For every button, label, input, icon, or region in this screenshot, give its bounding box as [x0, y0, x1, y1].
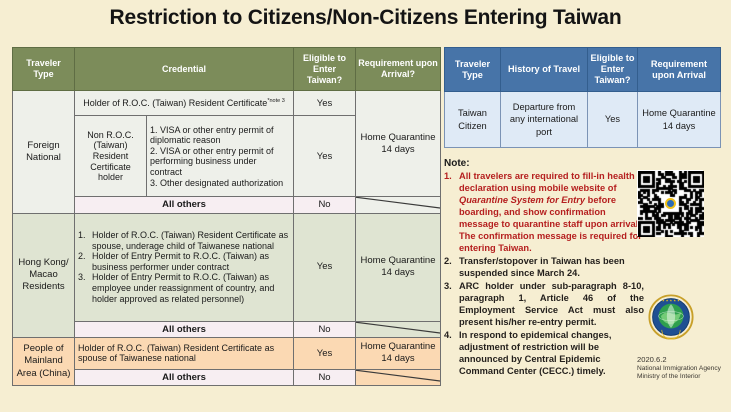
cell-eligible-fn-rc: Yes	[294, 91, 356, 116]
list-text: Holder of Entry Permit to R.O.C. (Taiwan…	[92, 272, 290, 304]
notes-heading: Note:	[444, 158, 644, 169]
header-traveler-type: Traveler Type	[13, 48, 75, 91]
cell-eligible-hk: Yes	[294, 213, 356, 321]
cell-requirement-taiwan-citizen: Home Quarantine 14 days	[638, 92, 721, 148]
credential-note-marker: *note 3	[267, 98, 284, 104]
table-row: Foreign National Holder of R.O.C. (Taiwa…	[13, 91, 441, 116]
cell-requirement-mainland: Home Quarantine 14 days	[356, 337, 441, 369]
right-table-header-row: Traveler Type History of Travel Eligible…	[445, 48, 721, 92]
publish-date: 2020.6.2	[637, 355, 731, 365]
note-fragment: In respond to epidemical changes, adjust…	[459, 330, 611, 376]
cell-traveler-type-hongkong-macao: Hong Kong/ Macao Residents	[13, 213, 75, 337]
national-immigration-agency-logo: ★ ★ ★ ★ ★	[648, 294, 694, 340]
header-requirement: Requirement upon Arrival	[638, 48, 721, 92]
header-traveler-type: Traveler Type	[445, 48, 501, 92]
diagonal-strike-icon	[356, 370, 441, 385]
list-text: Holder of Entry Permit to R.O.C. (Taiwan…	[92, 251, 290, 272]
note-fragment: All travelers are required to fill-in he…	[459, 171, 635, 193]
table-row: Hong Kong/ Macao Residents 1. Holder of …	[13, 213, 441, 321]
cell-requirement-all-others-fn	[356, 197, 441, 213]
list-number: 1.	[78, 230, 87, 241]
publisher-credit: 2020.6.2 National Immigration Agency Min…	[637, 355, 731, 382]
cell-eligible-taiwan-citizen: Yes	[588, 92, 638, 148]
requirement-text: Home Quarantine 14 days	[361, 132, 436, 155]
cell-credential-list-fn-nonrc: 1. VISA or other entry permit of diploma…	[147, 116, 294, 197]
note-number: 4.	[444, 329, 455, 377]
cell-eligible-fn-nonrc: Yes	[294, 116, 356, 197]
list-item: 3. Holder of Entry Permit to R.O.C. (Tai…	[78, 272, 290, 304]
cell-requirement-all-others-mainland	[356, 369, 441, 385]
non-citizen-restriction-table: Traveler Type Credential Eligible to Ent…	[12, 47, 441, 386]
poster-root: Restriction to Citizens/Non-Citizens Ent…	[0, 0, 731, 412]
note-fragment: Transfer/stopover in Taiwan has been sus…	[459, 256, 625, 278]
notes-section: Note: 1.All travelers are required to fi…	[444, 158, 644, 377]
note-text: ARC holder under sub-paragraph 8-10, par…	[459, 280, 644, 328]
page-title: Restriction to Citizens/Non-Citizens Ent…	[0, 6, 731, 30]
citizen-restriction-table: Traveler Type History of Travel Eligible…	[444, 47, 721, 148]
ministry-name: Ministry of the Interior	[637, 373, 731, 382]
header-requirement: Requirement upon Arrival?	[356, 48, 441, 91]
cell-credential-sub-fn-nonrc: Non R.O.C. (Taiwan) Resident Certificate…	[75, 116, 147, 197]
header-eligible: Eligible to Enter Taiwan?	[294, 48, 356, 91]
credential-text: Holder of R.O.C. (Taiwan) Resident Certi…	[83, 98, 267, 108]
note-fragment: ARC holder under sub-paragraph 8-10, par…	[459, 281, 644, 327]
header-credential: Credential	[75, 48, 294, 91]
cell-credential-hk: 1. Holder of R.O.C. (Taiwan) Resident Ce…	[75, 213, 294, 321]
logo-svg: ★ ★ ★ ★ ★	[648, 294, 694, 340]
cell-requirement-fn: Home Quarantine 14 days	[356, 91, 441, 197]
svg-text:★ ★ ★ ★ ★: ★ ★ ★ ★ ★	[662, 298, 680, 302]
header-history-of-travel: History of Travel	[501, 48, 588, 92]
cell-history-of-travel: Departure from any international port	[501, 92, 588, 148]
cell-eligible-mainland: Yes	[294, 337, 356, 369]
note-text: In respond to epidemical changes, adjust…	[459, 329, 644, 377]
citizen-table-wrapper: Traveler Type History of Travel Eligible…	[444, 47, 720, 148]
cell-traveler-type-foreign-national: Foreign National	[13, 91, 75, 213]
quarantine-system-for-entry-qr-icon[interactable]	[637, 170, 703, 236]
credential-line: 1. VISA or other entry permit of diploma…	[150, 125, 290, 146]
table-row: Taiwan Citizen Departure from any intern…	[445, 92, 721, 148]
table-row: People of Mainland Area (China) Holder o…	[13, 337, 441, 369]
list-number: 2.	[78, 251, 87, 262]
diagonal-strike-icon	[356, 197, 441, 212]
diagonal-strike-icon	[356, 322, 441, 337]
credential-line: 3. Other designated authorization	[150, 178, 290, 189]
cell-requirement-all-others-hk	[356, 321, 441, 337]
left-table-header-row: Traveler Type Credential Eligible to Ent…	[13, 48, 441, 91]
cell-eligible-all-others-mainland: No	[294, 369, 356, 385]
list-item: 1. Holder of R.O.C. (Taiwan) Resident Ce…	[78, 230, 290, 251]
note-number: 1.	[444, 170, 455, 255]
table-row-all-others: All others No	[13, 369, 441, 385]
note-number: 3.	[444, 280, 455, 328]
note-number: 2.	[444, 255, 455, 279]
note-item: 3.ARC holder under sub-paragraph 8-10, p…	[444, 280, 644, 328]
cell-all-others-hk: All others	[75, 321, 294, 337]
cell-credential-fn-rc: Holder of R.O.C. (Taiwan) Resident Certi…	[75, 91, 294, 116]
header-eligible: Eligible to Enter Taiwan?	[588, 48, 638, 92]
cell-requirement-hk: Home Quarantine 14 days	[356, 213, 441, 321]
notes-list: 1.All travelers are required to fill-in …	[444, 170, 644, 377]
note-text: All travelers are required to fill-in he…	[459, 170, 644, 255]
cell-all-others-mainland: All others	[75, 369, 294, 385]
table-row-all-others: All others No	[13, 197, 441, 213]
cell-all-others-fn: All others	[75, 197, 294, 213]
table-row-all-others: All others No	[13, 321, 441, 337]
list-number: 3.	[78, 272, 87, 283]
cell-eligible-all-others-hk: No	[294, 321, 356, 337]
note-emphasis: Quarantine System for Entry	[459, 195, 585, 205]
credential-line: 2. VISA or other entry permit of perform…	[150, 146, 290, 178]
agency-name: National Immigration Agency	[637, 365, 731, 374]
note-text: Transfer/stopover in Taiwan has been sus…	[459, 255, 644, 279]
non-citizen-table-wrapper: Traveler Type Credential Eligible to Ent…	[12, 47, 440, 386]
qr-center-logo	[664, 197, 677, 210]
cell-traveler-type-mainland: People of Mainland Area (China)	[13, 337, 75, 385]
list-item: 2. Holder of Entry Permit to R.O.C. (Tai…	[78, 251, 290, 272]
list-text: Holder of R.O.C. (Taiwan) Resident Certi…	[92, 230, 290, 251]
note-item: 1.All travelers are required to fill-in …	[444, 170, 644, 255]
cell-credential-mainland: Holder of R.O.C. (Taiwan) Resident Certi…	[75, 337, 294, 369]
note-item: 4.In respond to epidemical changes, adju…	[444, 329, 644, 377]
cell-eligible-all-others-fn: No	[294, 197, 356, 213]
note-item: 2.Transfer/stopover in Taiwan has been s…	[444, 255, 644, 279]
cell-traveler-type-taiwan-citizen: Taiwan Citizen	[445, 92, 501, 148]
